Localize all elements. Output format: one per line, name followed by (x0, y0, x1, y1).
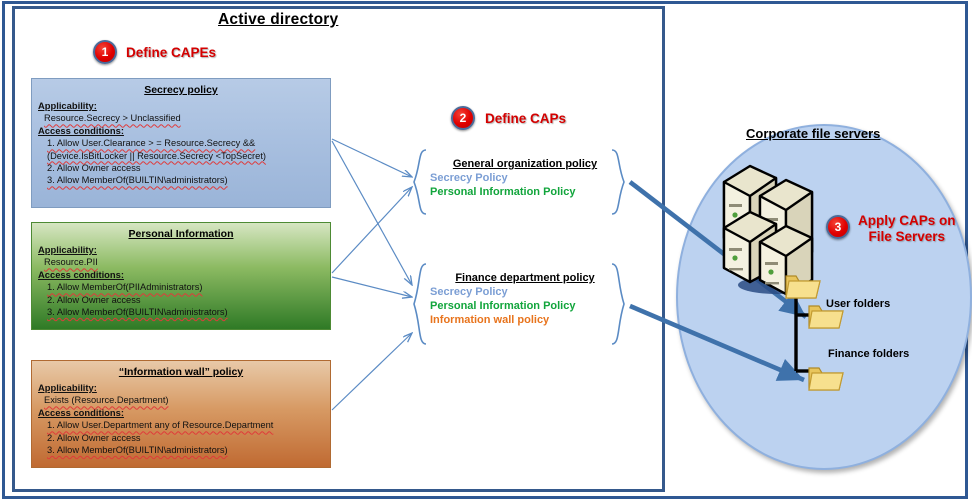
cape-condition-0-2: 2. Allow Owner access (38, 162, 324, 174)
cape-condition-0-1: (Device.IsBitLocker || Resource.Secrecy … (38, 150, 324, 162)
step-badge-2: 2 (451, 106, 475, 130)
cap-policy-0-1: Personal Information Policy (430, 185, 620, 199)
cape-access-header-1: Access conditions: (38, 269, 324, 282)
step-number-2: 2 (460, 111, 467, 125)
cap-box-general-organization: General organization policy Secrecy Poli… (418, 152, 624, 205)
step-badge-3: 3 (826, 215, 850, 239)
cap-policy-1-1: Personal Information Policy (430, 299, 620, 313)
cape-applicability-0: Resource.Secrecy > Unclassified (38, 112, 324, 124)
cape-box-secrecy-policy: Secrecy policy Applicability: Resource.S… (31, 78, 331, 208)
folder-label-finance-folders: Finance folders (828, 348, 909, 360)
page-title: Active directory (218, 11, 338, 29)
step-label-define-capes: Define CAPEs (126, 45, 216, 61)
step-badge-1: 1 (93, 40, 117, 64)
cape-applicability-header-2: Applicability: (38, 382, 324, 395)
cape-condition-1-0: 1. Allow MemberOf(PIIAdministrators) (38, 281, 324, 293)
diagram-canvas: Active directory 1 Define CAPEs 2 Define… (0, 0, 972, 502)
folder-icon-finance-folders (806, 362, 846, 394)
cape-title-information-wall: “Information wall” policy (38, 366, 324, 380)
cape-condition-0-0: 1. Allow User.Clearance > = Resource.Sec… (38, 137, 324, 149)
cape-condition-2-0: 1. Allow User.Department any of Resource… (38, 419, 324, 431)
cape-applicability-header-1: Applicability: (38, 244, 324, 257)
step-number-3: 3 (835, 220, 842, 234)
file-servers-title: Corporate file servers (746, 126, 880, 141)
cap-title-general: General organization policy (430, 158, 620, 170)
cape-condition-2-1: 2. Allow Owner access (38, 432, 324, 444)
cap-box-finance-department: Finance department policy Secrecy Policy… (418, 266, 624, 333)
cape-applicability-header-0: Applicability: (38, 100, 324, 113)
folder-icon-root (783, 270, 823, 302)
cape-condition-2-2: 3. Allow MemberOf(BUILTIN\administrators… (38, 444, 324, 456)
step-label-apply-caps-line1: Apply CAPs on (858, 213, 956, 229)
cape-condition-0-3: 3. Allow MemberOf(BUILTIN\administrators… (38, 174, 324, 186)
step-label-define-caps: Define CAPs (485, 111, 566, 127)
cape-applicability-2: Exists (Resource.Department) (38, 394, 324, 406)
cap-title-finance: Finance department policy (430, 272, 620, 284)
step-label-apply-caps: Apply CAPs on File Servers (858, 213, 956, 244)
cap-policy-1-2: Information wall policy (430, 313, 620, 327)
step-label-apply-caps-line2: File Servers (858, 229, 956, 245)
cape-title-secrecy: Secrecy policy (38, 84, 324, 98)
cape-title-personal-information: Personal Information (38, 228, 324, 242)
cape-access-header-2: Access conditions: (38, 407, 324, 420)
cape-condition-1-2: 3. Allow MemberOf(BUILTIN\administrators… (38, 306, 324, 318)
folder-label-user-folders: User folders (826, 298, 890, 310)
cap-policy-0-0: Secrecy Policy (430, 171, 620, 185)
step-number-1: 1 (102, 45, 109, 59)
cape-access-header-0: Access conditions: (38, 125, 324, 138)
cape-condition-1-1: 2. Allow Owner access (38, 294, 324, 306)
cape-applicability-1: Resource.PII (38, 256, 324, 268)
cape-box-information-wall: “Information wall” policy Applicability:… (31, 360, 331, 468)
cape-box-personal-information: Personal Information Applicability: Reso… (31, 222, 331, 330)
cap-policy-1-0: Secrecy Policy (430, 285, 620, 299)
